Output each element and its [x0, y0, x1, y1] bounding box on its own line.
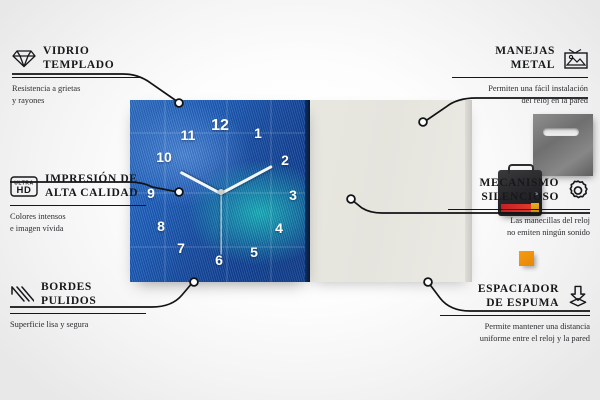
clock-numeral: 4: [275, 221, 283, 235]
callout-mecanismo-silencioso: MECANISMO SILENCIOSO Las manecillas del …: [448, 176, 590, 239]
callout-rule: [440, 315, 590, 316]
polished-edges-icon: [10, 285, 34, 304]
callout-rule: [452, 77, 588, 78]
callout-title-row: MANEJAS METAL: [452, 44, 588, 73]
callout-title-row: BORDES PULIDOS: [10, 280, 146, 309]
diamond-icon: [12, 49, 36, 68]
callout-bordes-pulidos: BORDES PULIDOS Superficie lisa y segura: [10, 280, 146, 331]
hanger-slot: [543, 128, 579, 136]
callout-title-row: ultra HD IMPRESIÓN DE ALTA CALIDAD: [10, 172, 146, 201]
infographic-canvas: 12 1 2 3 4 5 6 7 8 9 10 11: [0, 0, 600, 400]
metal-hanger-plate: [533, 114, 593, 176]
clock-second-hand: [220, 193, 221, 255]
callout-vidrio-templado: VIDRIO TEMPLADO Resistencia a grietas y …: [12, 44, 140, 107]
callout-rule: [448, 209, 590, 210]
clock-center-hub: [218, 189, 224, 195]
foam-spacer: [519, 251, 534, 266]
callout-rule: [10, 205, 146, 206]
clock-numeral: 2: [281, 153, 289, 167]
picture-hanger-icon: [562, 48, 588, 69]
clock-numeral: 5: [250, 245, 258, 259]
mechanism-handle: [508, 164, 534, 174]
clock-numeral: 11: [181, 128, 196, 142]
gear-icon: [566, 179, 590, 202]
callout-impresion-alta-calidad: ultra HD IMPRESIÓN DE ALTA CALIDAD Color…: [10, 172, 146, 235]
callout-description: Las manecillas del reloj no emiten ningú…: [448, 215, 590, 239]
callout-title: VIDRIO TEMPLADO: [43, 44, 114, 73]
clock-numeral: 12: [211, 118, 229, 134]
clock-numeral: 6: [215, 253, 223, 267]
clock-numeral: 10: [156, 150, 172, 164]
clock-numeral: 8: [157, 219, 165, 233]
callout-title-row: MECANISMO SILENCIOSO: [448, 176, 590, 205]
product-photo: 12 1 2 3 4 5 6 7 8 9 10 11: [130, 100, 472, 282]
callout-espaciador-de-espuma: ESPACIADOR DE ESPUMA Permite mantener un…: [440, 282, 590, 345]
callout-title: MANEJAS METAL: [495, 44, 555, 73]
callout-description: Colores intensos e imagen vívida: [10, 211, 146, 235]
callout-rule: [12, 77, 140, 78]
callout-title: BORDES PULIDOS: [41, 280, 96, 309]
clock-minute-hand: [220, 165, 273, 195]
callout-title: ESPACIADOR DE ESPUMA: [478, 282, 559, 311]
callout-manejas-metal: MANEJAS METAL Permiten una fácil instala…: [452, 44, 588, 107]
clock-numeral: 7: [177, 241, 185, 255]
callout-description: Permite mantener una distancia uniforme …: [440, 321, 590, 345]
callout-title: MECANISMO SILENCIOSO: [479, 176, 559, 205]
clock-numeral: 3: [289, 188, 297, 202]
callout-rule: [10, 313, 146, 314]
ultra-hd-icon: ultra HD: [10, 176, 38, 197]
svg-text:HD: HD: [17, 185, 32, 196]
callout-title-row: VIDRIO TEMPLADO: [12, 44, 140, 73]
callout-title-row: ESPACIADOR DE ESPUMA: [440, 282, 590, 311]
wall-clock-face: 12 1 2 3 4 5 6 7 8 9 10 11: [130, 100, 310, 282]
callout-description: Resistencia a grietas y rayones: [12, 83, 140, 107]
down-arrow-platform-icon: [566, 285, 590, 308]
clock-numeral: 9: [147, 186, 155, 200]
clock-numeral: 1: [254, 126, 262, 140]
callout-description: Superficie lisa y segura: [10, 319, 146, 331]
callout-description: Permiten una fácil instalación del reloj…: [452, 83, 588, 107]
callout-title: IMPRESIÓN DE ALTA CALIDAD: [45, 172, 138, 201]
